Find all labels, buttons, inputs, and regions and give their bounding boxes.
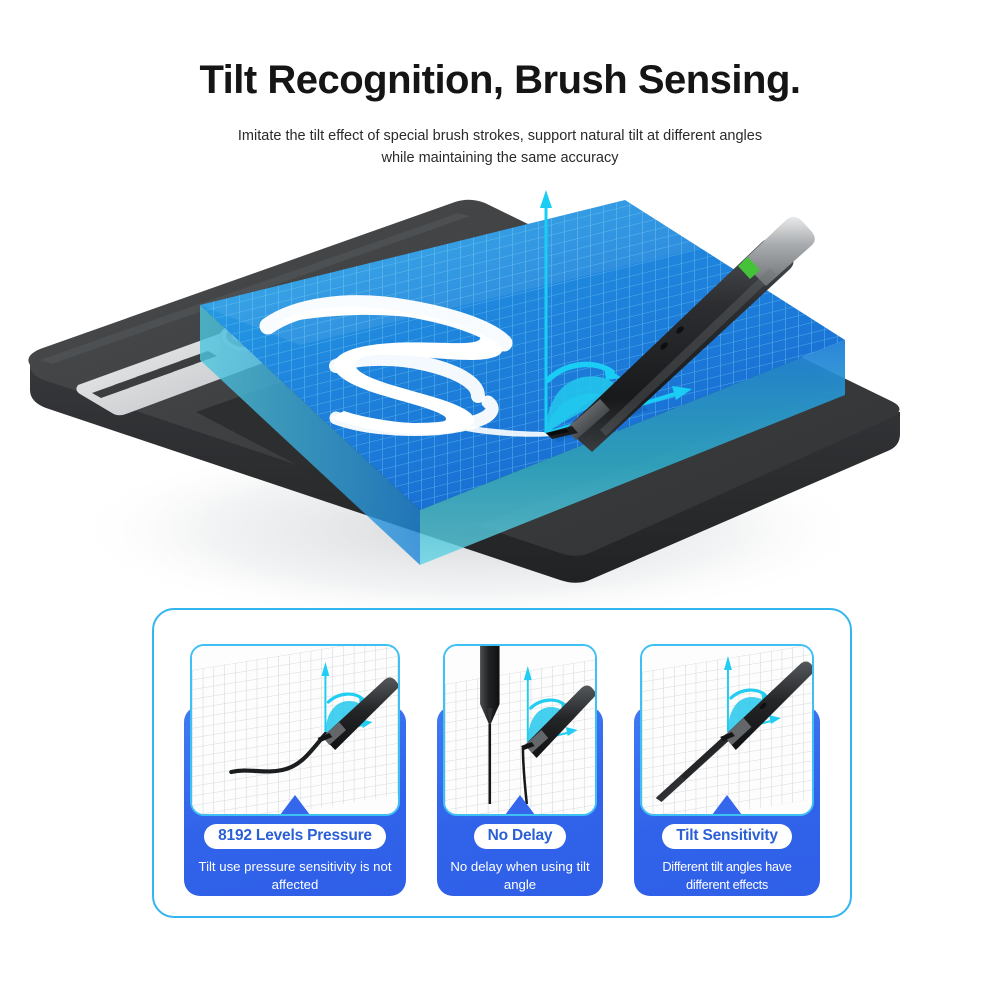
page-title: Tilt Recognition, Brush Sensing. (0, 58, 1000, 102)
feature-caption-no-delay: No delay when using tilt angle (443, 858, 597, 894)
feature-illustration-tilt-sensitivity (640, 644, 814, 816)
feature-illustration-no-delay (443, 644, 597, 816)
card-notch (712, 795, 742, 815)
feature-illustration-pressure (190, 644, 400, 816)
feature-card-no-delay[interactable]: No Delay No delay when using tilt angle (437, 644, 603, 900)
feature-text-pressure: 8192 Levels Pressure Tilt use pressure s… (184, 824, 406, 894)
feature-label-pressure: 8192 Levels Pressure (204, 824, 386, 849)
feature-card-tilt-sensitivity[interactable]: Tilt Sensitivity Different tilt angles h… (634, 644, 820, 900)
header: Tilt Recognition, Brush Sensing. Imitate… (0, 0, 1000, 170)
subtitle-line-2: while maintaining the same accuracy (0, 147, 1000, 169)
card-notch (280, 795, 310, 815)
hero-illustration: GAOMON (0, 180, 1000, 620)
feature-label-tilt-sensitivity: Tilt Sensitivity (662, 824, 792, 849)
page-subtitle: Imitate the tilt effect of special brush… (0, 125, 1000, 170)
features-panel: 8192 Levels Pressure Tilt use pressure s… (152, 608, 852, 918)
card-notch (505, 795, 535, 815)
feature-text-tilt-sensitivity: Tilt Sensitivity Different tilt angles h… (634, 824, 820, 893)
feature-text-no-delay: No Delay No delay when using tilt angle (437, 824, 603, 894)
product-feature-page: Tilt Recognition, Brush Sensing. Imitate… (0, 0, 1000, 1000)
features-card-row: 8192 Levels Pressure Tilt use pressure s… (154, 610, 850, 916)
feature-card-pressure[interactable]: 8192 Levels Pressure Tilt use pressure s… (184, 644, 406, 900)
feature-label-no-delay: No Delay (474, 824, 567, 849)
subtitle-line-1: Imitate the tilt effect of special brush… (0, 125, 1000, 147)
feature-caption-pressure: Tilt use pressure sensitivity is not aff… (190, 858, 400, 894)
feature-caption-tilt-sensitivity: Different tilt angles have different eff… (640, 858, 814, 893)
